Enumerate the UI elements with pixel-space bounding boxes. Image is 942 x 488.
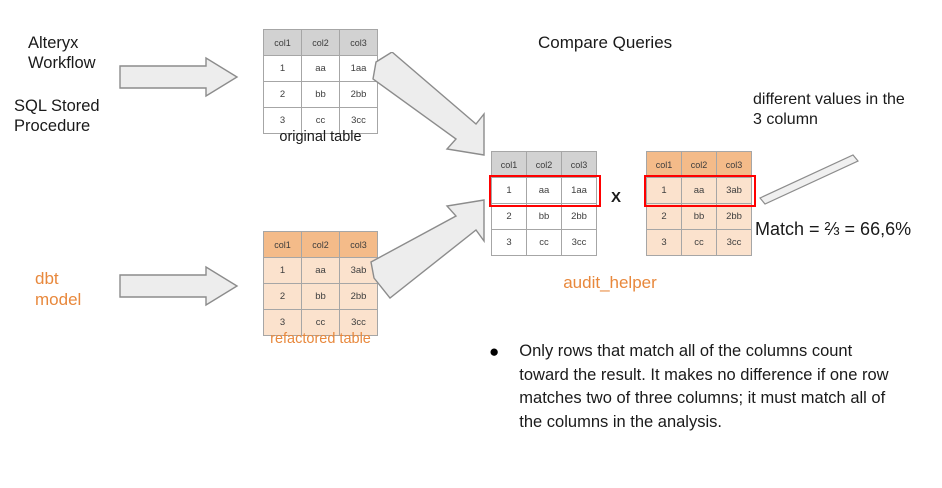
match-result-text: Match = ⅔ = 66,6% [755, 219, 911, 240]
original-table-grid: col1 col2 col3 1 aa 1aa 2 bb 2bb 3 cc 3c… [263, 29, 378, 134]
arrow-right-bottom [118, 265, 240, 307]
compare-left-table-grid: col1 col2 col3 1 aa 1aa 2 bb 2bb 3 cc 3c… [491, 151, 597, 256]
table-cell: 3ab [717, 178, 752, 204]
table-header-cell: col3 [562, 152, 597, 178]
table-row: 1 aa 3ab [647, 178, 752, 204]
bullet-marker-icon: ● [489, 340, 499, 363]
compare-right-table: col1 col2 col3 1 aa 3ab 2 bb 2bb 3 cc 3c… [646, 151, 752, 256]
table-row: 3 cc 3cc [647, 230, 752, 256]
table-header-cell: col2 [682, 152, 717, 178]
table-header-cell: col1 [647, 152, 682, 178]
compare-right-table-grid: col1 col2 col3 1 aa 3ab 2 bb 2bb 3 cc 3c… [646, 151, 752, 256]
table-header-cell: col3 [717, 152, 752, 178]
table-row: 2 bb 2bb [492, 204, 597, 230]
arrow-right-top [118, 56, 240, 98]
table-cell: 1 [647, 178, 682, 204]
refactored-table-caption: refactored table [248, 331, 393, 347]
table-cell: aa [302, 56, 340, 82]
table-header-cell: col1 [264, 30, 302, 56]
audit-helper-caption: audit_helper [505, 273, 715, 293]
table-cell: 2bb [717, 204, 752, 230]
table-cell: cc [682, 230, 717, 256]
table-header-cell: col2 [527, 152, 562, 178]
annotation-different-values: different values in the 3 column [753, 90, 905, 130]
table-header-cell: col1 [492, 152, 527, 178]
table-cell: 1 [492, 178, 527, 204]
table-cell: 1 [264, 56, 302, 82]
table-cell: aa [682, 178, 717, 204]
cross-symbol: X [611, 189, 621, 206]
table-cell: 3 [492, 230, 527, 256]
table-cell: 2 [264, 82, 302, 108]
original-table: col1 col2 col3 1 aa 1aa 2 bb 2bb 3 cc 3c… [263, 29, 378, 134]
table-cell: 1aa [562, 178, 597, 204]
table-cell: aa [527, 178, 562, 204]
table-row: 2 bb 2bb [264, 284, 378, 310]
table-row: 3 cc 3cc [492, 230, 597, 256]
table-header-row: col1 col2 col3 [264, 30, 378, 56]
table-cell: 1 [264, 258, 302, 284]
table-cell: bb [302, 284, 340, 310]
compare-left-table: col1 col2 col3 1 aa 1aa 2 bb 2bb 3 cc 3c… [491, 151, 597, 256]
table-cell: 2 [647, 204, 682, 230]
refactored-table: col1 col2 col3 1 aa 3ab 2 bb 2bb 3 cc 3c… [263, 231, 378, 336]
table-row: 1 aa 1aa [492, 178, 597, 204]
table-cell: bb [682, 204, 717, 230]
table-row: 1 aa 3ab [264, 258, 378, 284]
table-header-row: col1 col2 col3 [647, 152, 752, 178]
table-header-cell: col2 [302, 232, 340, 258]
table-cell: 3cc [562, 230, 597, 256]
bullet-note: ● Only rows that match all of the column… [489, 340, 899, 434]
table-cell: 2 [264, 284, 302, 310]
source-label-sql-stored-procedure: SQL Stored Procedure [14, 96, 100, 136]
page-title: Compare Queries [538, 33, 672, 53]
table-cell: aa [302, 258, 340, 284]
source-label-dbt-model: dbt model [35, 268, 81, 310]
table-cell: bb [527, 204, 562, 230]
table-header-cell: col2 [302, 30, 340, 56]
table-cell: cc [527, 230, 562, 256]
table-cell: bb [302, 82, 340, 108]
table-row: 2 bb 2bb [264, 82, 378, 108]
table-row: 1 aa 1aa [264, 56, 378, 82]
table-header-row: col1 col2 col3 [264, 232, 378, 258]
pointer-line-shape [757, 152, 862, 207]
source-label-alteryx-workflow: Alteryx Workflow [28, 33, 96, 73]
refactored-table-grid: col1 col2 col3 1 aa 3ab 2 bb 2bb 3 cc 3c… [263, 231, 378, 336]
bullet-note-text: Only rows that match all of the columns … [519, 340, 891, 434]
arrow-diagonal-down-right [368, 52, 513, 167]
table-cell: 2 [492, 204, 527, 230]
table-cell: 3 [647, 230, 682, 256]
table-row: 2 bb 2bb [647, 204, 752, 230]
table-cell: 3cc [717, 230, 752, 256]
table-cell: 2bb [562, 204, 597, 230]
table-header-cell: col1 [264, 232, 302, 258]
table-header-row: col1 col2 col3 [492, 152, 597, 178]
